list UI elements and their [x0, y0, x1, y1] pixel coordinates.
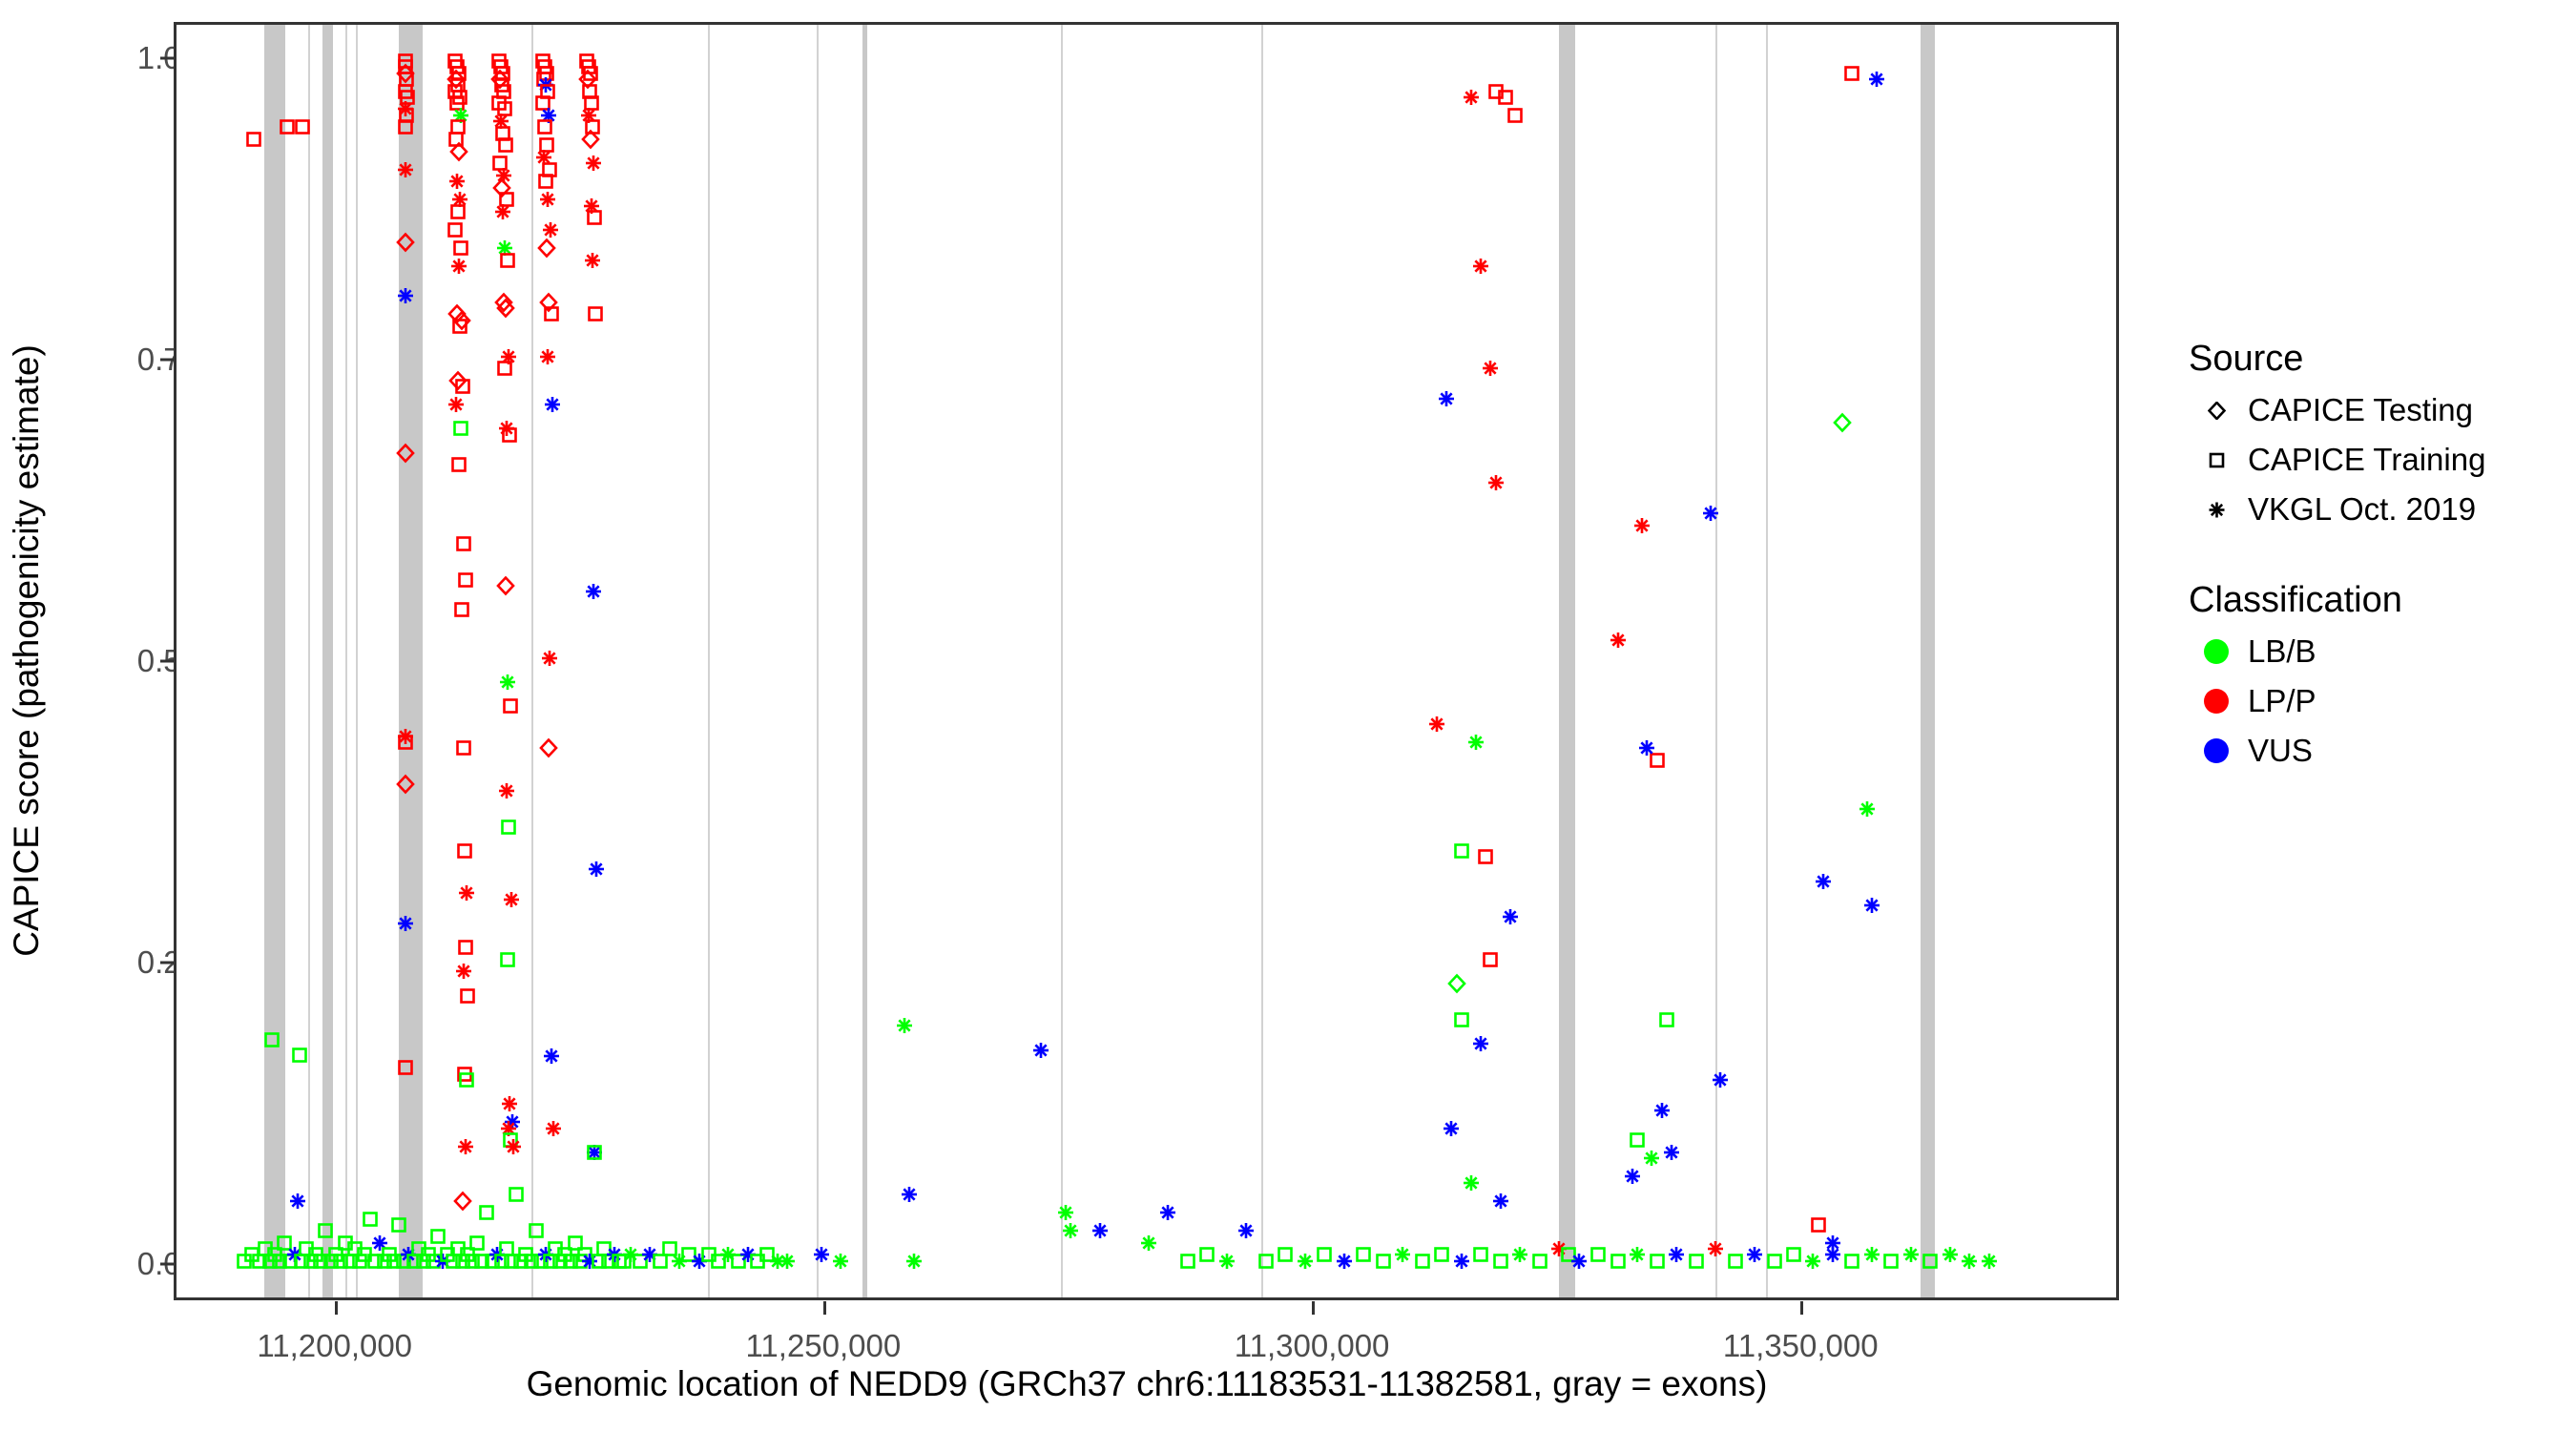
marker-asterisk	[588, 860, 606, 878]
marker-asterisk	[579, 106, 597, 124]
marker-asterisk	[900, 1186, 918, 1204]
marker-square	[483, 1252, 501, 1270]
marker-square	[429, 1228, 447, 1246]
marker-asterisk	[583, 197, 601, 215]
exon-band	[322, 25, 332, 1297]
marker-square	[1648, 752, 1666, 770]
x-tick-mark	[1800, 1301, 1803, 1315]
marker-asterisk	[1858, 799, 1876, 818]
marker-square	[1316, 1246, 1334, 1264]
marker-square	[346, 1240, 364, 1258]
marker-asterisk	[1823, 1246, 1841, 1264]
exon-gridline	[308, 25, 310, 1297]
y-tick-mark	[160, 56, 174, 59]
marker-asterisk	[1814, 872, 1832, 890]
marker-square	[361, 1210, 379, 1228]
marker-asterisk	[1623, 1168, 1641, 1186]
exon-gridline	[708, 25, 710, 1297]
marker-square	[446, 52, 464, 70]
marker-asterisk	[1428, 715, 1446, 734]
marker-square	[503, 1252, 521, 1270]
marker-asterisk	[1452, 1252, 1470, 1270]
marker-diamond	[448, 371, 467, 389]
legend-item-classification[interactable]: LB/B	[2185, 627, 2566, 676]
marker-asterisk	[1296, 1252, 1314, 1270]
x-tick-label: 11,200,000	[192, 1328, 478, 1364]
x-tick-mark	[823, 1301, 826, 1315]
marker-square	[540, 160, 558, 178]
marker-square	[450, 318, 468, 336]
marker-asterisk	[534, 149, 552, 167]
exon-band	[1566, 25, 1570, 1297]
marker-square	[493, 64, 511, 82]
marker-square	[1452, 1010, 1470, 1028]
marker-asterisk	[499, 1119, 517, 1137]
exon-band	[264, 25, 286, 1297]
marker-diamond	[449, 142, 467, 160]
legend-item-source[interactable]: CAPICE Testing	[2185, 385, 2566, 435]
marker-square	[536, 173, 554, 191]
marker-square	[533, 52, 551, 70]
marker-square	[1843, 1252, 1861, 1270]
exon-gridline	[1261, 25, 1263, 1297]
marker-square	[1809, 1215, 1827, 1234]
marker-square	[500, 425, 518, 444]
marker-square	[365, 1252, 384, 1270]
marker-square	[502, 1131, 520, 1150]
marker-square	[575, 1246, 593, 1264]
marker-square	[1609, 1252, 1627, 1270]
marker-diamond	[539, 293, 557, 311]
marker-square	[610, 1252, 628, 1270]
marker-asterisk	[499, 347, 517, 365]
marker-square	[584, 118, 602, 136]
marker-asterisk	[1633, 516, 1652, 534]
marker-asterisk	[494, 167, 512, 185]
y-tick-mark	[160, 1263, 174, 1266]
marker-asterisk	[1091, 1222, 1109, 1240]
marker-asterisk	[497, 781, 515, 799]
exon-band	[862, 25, 867, 1297]
marker-square	[614, 1252, 633, 1270]
exon-gridline	[531, 25, 533, 1297]
marker-asterisk	[1472, 1035, 1490, 1053]
legend-label: VUS	[2248, 733, 2313, 769]
x-tick-mark	[335, 1301, 338, 1315]
marker-square	[449, 456, 467, 474]
marker-asterisk	[580, 1252, 598, 1270]
legend-item-source[interactable]: CAPICE Training	[2185, 435, 2566, 485]
marker-square	[582, 64, 600, 82]
marker-asterisk	[456, 1137, 474, 1155]
marker-asterisk	[1501, 908, 1519, 926]
chart-figure: CAPICE score (pathogenicity estimate) 0.…	[0, 0, 2576, 1431]
legend-label: CAPICE Training	[2248, 442, 2485, 478]
marker-asterisk	[1980, 1252, 1998, 1270]
marker-asterisk	[719, 1246, 737, 1264]
marker-square	[680, 1246, 698, 1264]
marker-asterisk	[768, 1252, 786, 1270]
marker-asterisk	[434, 1252, 452, 1270]
marker-asterisk	[498, 673, 516, 691]
marker-asterisk	[1443, 1119, 1461, 1137]
marker-asterisk	[1159, 1204, 1177, 1222]
marker-square	[454, 534, 472, 552]
marker-asterisk	[895, 1017, 913, 1035]
exon-band	[399, 25, 423, 1297]
square-icon	[2185, 451, 2248, 469]
marker-asterisk	[504, 1113, 522, 1131]
marker-asterisk	[1941, 1246, 1959, 1264]
marker-square	[380, 1246, 398, 1264]
marker-square	[497, 191, 515, 209]
marker-square	[600, 1252, 618, 1270]
marker-square	[493, 124, 511, 142]
legend-item-source[interactable]: VKGL Oct. 2019	[2185, 485, 2566, 534]
marker-square	[1257, 1252, 1275, 1270]
marker-square	[448, 76, 467, 94]
marker-square	[1433, 1246, 1451, 1264]
marker-asterisk	[1609, 631, 1627, 649]
marker-asterisk	[488, 1246, 506, 1264]
marker-square	[535, 58, 553, 76]
marker-square	[464, 1252, 482, 1270]
diamond-icon	[2185, 402, 2248, 420]
marker-square	[758, 1246, 777, 1264]
marker-asterisk	[1901, 1246, 1920, 1264]
marker-asterisk	[1061, 1222, 1079, 1240]
marker-asterisk	[641, 1246, 659, 1264]
color-swatch-icon	[2185, 689, 2248, 714]
legend-group-classification: LB/BLP/PVUS	[2185, 627, 2566, 776]
marker-diamond	[578, 70, 596, 88]
marker-square	[1530, 1252, 1548, 1270]
exon-band	[1921, 25, 1934, 1297]
marker-square	[444, 1252, 462, 1270]
marker-square	[455, 841, 473, 860]
marker-square	[448, 118, 467, 136]
marker-square	[453, 378, 471, 396]
marker-asterisk	[545, 1119, 563, 1137]
marker-asterisk	[738, 1246, 757, 1264]
marker-asterisk	[288, 1192, 306, 1210]
marker-square	[356, 1246, 374, 1264]
marker-asterisk	[454, 963, 472, 981]
marker-square	[508, 1186, 526, 1204]
marker-asterisk	[1491, 1192, 1509, 1210]
marker-square	[473, 1252, 491, 1270]
marker-asterisk	[1629, 1246, 1647, 1264]
marker-diamond	[492, 178, 510, 197]
legend-item-classification[interactable]: LP/P	[2185, 676, 2566, 726]
marker-square	[494, 82, 512, 100]
x-tick-label: 11,350,000	[1657, 1328, 1943, 1364]
marker-square	[455, 1065, 473, 1083]
marker-diamond	[1447, 975, 1465, 993]
plot-area	[177, 25, 2116, 1297]
marker-asterisk	[540, 649, 558, 667]
marker-asterisk	[1467, 734, 1485, 752]
marker-diamond	[537, 238, 555, 257]
marker-square	[451, 420, 469, 438]
marker-square	[497, 1240, 515, 1258]
marker-asterisk	[1746, 1246, 1764, 1264]
marker-square	[297, 1240, 315, 1258]
marker-square	[749, 1252, 767, 1270]
marker-square	[632, 1252, 650, 1270]
marker-asterisk	[622, 1246, 640, 1264]
marker-diamond	[539, 739, 557, 757]
marker-asterisk	[1961, 1252, 1979, 1270]
marker-asterisk	[491, 113, 509, 131]
marker-square	[451, 238, 469, 257]
marker-asterisk	[1482, 360, 1500, 378]
marker-asterisk	[605, 1246, 623, 1264]
marker-asterisk	[543, 1047, 561, 1065]
marker-square	[495, 360, 513, 378]
marker-asterisk	[586, 1143, 604, 1161]
marker-asterisk	[536, 1246, 554, 1264]
marker-square	[478, 1204, 496, 1222]
legend-label: VKGL Oct. 2019	[2248, 491, 2476, 528]
marker-square	[490, 155, 509, 173]
marker-square	[537, 136, 555, 155]
marker-asterisk	[449, 257, 467, 275]
legend-item-classification[interactable]: VUS	[2185, 726, 2566, 776]
marker-square	[456, 939, 474, 957]
marker-square	[534, 70, 552, 88]
marker-square	[1452, 841, 1470, 860]
marker-asterisk	[493, 202, 511, 220]
asterisk-icon	[2185, 501, 2248, 519]
marker-asterisk	[778, 1252, 796, 1270]
legend-group-source: CAPICE TestingCAPICE TrainingVKGL Oct. 2…	[2185, 385, 2566, 534]
y-tick-mark	[160, 358, 174, 361]
marker-square	[543, 305, 561, 323]
marker-square	[537, 64, 555, 82]
marker-square	[457, 1071, 475, 1089]
marker-asterisk	[585, 583, 603, 601]
marker-asterisk	[1438, 389, 1456, 407]
marker-asterisk	[447, 396, 465, 414]
marker-square	[456, 570, 474, 589]
y-tick-mark	[160, 660, 174, 663]
marker-square	[375, 1252, 393, 1270]
marker-asterisk	[505, 1137, 523, 1155]
marker-square	[242, 1246, 260, 1264]
marker-square	[454, 739, 472, 757]
marker-square	[302, 1252, 321, 1270]
plot-panel	[174, 22, 2119, 1300]
marker-diamond	[490, 70, 509, 88]
marker-square	[489, 94, 508, 113]
marker-square	[1785, 1246, 1803, 1264]
color-swatch-icon	[2185, 738, 2248, 763]
marker-asterisk	[497, 420, 515, 438]
marker-square	[1726, 1252, 1744, 1270]
marker-square	[512, 1252, 530, 1270]
marker-square	[502, 697, 520, 715]
marker-square	[351, 1252, 369, 1270]
marker-square	[1482, 950, 1500, 968]
marker-square	[651, 1252, 669, 1270]
marker-square	[498, 251, 516, 269]
marker-asterisk	[536, 76, 554, 94]
marker-square	[1486, 82, 1505, 100]
marker-square	[1629, 1131, 1647, 1150]
y-tick-mark	[160, 962, 174, 964]
marker-square	[290, 1046, 308, 1064]
marker-square	[425, 1252, 443, 1270]
marker-square	[1472, 1246, 1490, 1264]
marker-square	[586, 209, 604, 227]
marker-diamond	[453, 1192, 471, 1210]
marker-asterisk	[539, 106, 557, 124]
marker-asterisk	[584, 251, 602, 269]
marker-square	[458, 1246, 476, 1264]
exon-gridline	[345, 25, 347, 1297]
exon-gridline	[356, 25, 358, 1297]
exon-gridline	[1061, 25, 1063, 1297]
marker-asterisk	[542, 220, 560, 238]
marker-diamond	[1834, 414, 1852, 432]
marker-asterisk	[1862, 1246, 1880, 1264]
marker-asterisk	[1472, 257, 1490, 275]
marker-square	[492, 1252, 510, 1270]
marker-square	[542, 1252, 560, 1270]
marker-square	[450, 88, 468, 106]
x-axis-title: Genomic location of NEDD9 (GRCh37 chr6:1…	[174, 1364, 2120, 1404]
marker-square	[496, 136, 514, 155]
marker-asterisk	[538, 347, 556, 365]
marker-square	[547, 1240, 565, 1258]
marker-square	[710, 1252, 728, 1270]
marker-square	[1687, 1252, 1705, 1270]
marker-asterisk	[1804, 1252, 1822, 1270]
marker-square	[595, 1240, 613, 1258]
marker-square	[571, 1252, 589, 1270]
marker-asterisk	[812, 1246, 830, 1264]
x-tick-label: 11,250,000	[680, 1328, 966, 1364]
marker-square	[447, 131, 465, 149]
marker-asterisk	[1056, 1204, 1074, 1222]
legend-label: LB/B	[2248, 633, 2316, 670]
marker-square	[556, 1246, 574, 1264]
marker-asterisk	[690, 1252, 708, 1270]
marker-square	[489, 52, 508, 70]
marker-square	[452, 601, 470, 619]
marker-square	[1506, 106, 1525, 124]
marker-asterisk	[503, 890, 521, 908]
marker-square	[580, 82, 598, 100]
marker-square	[492, 76, 510, 94]
marker-asterisk	[544, 396, 562, 414]
marker-square	[1277, 1246, 1295, 1264]
marker-square	[583, 94, 601, 113]
marker-square	[587, 305, 605, 323]
marker-asterisk	[832, 1252, 850, 1270]
marker-asterisk	[451, 106, 469, 124]
marker-square	[447, 94, 466, 113]
exon-gridline	[1715, 25, 1717, 1297]
marker-asterisk	[495, 238, 513, 257]
marker-square	[1657, 1010, 1675, 1028]
marker-square	[591, 1252, 609, 1270]
marker-square	[244, 131, 262, 149]
marker-asterisk	[905, 1252, 924, 1270]
marker-asterisk	[1462, 88, 1480, 106]
x-tick-label: 11,300,000	[1169, 1328, 1455, 1364]
marker-diamond	[582, 131, 600, 149]
marker-asterisk	[1662, 1143, 1680, 1161]
marker-square	[1355, 1246, 1373, 1264]
marker-square	[538, 82, 556, 100]
marker-asterisk	[1643, 1150, 1661, 1168]
marker-square	[551, 1252, 570, 1270]
marker-square	[577, 52, 595, 70]
marker-asterisk	[1652, 1101, 1671, 1119]
marker-asterisk	[285, 1246, 303, 1264]
marker-square	[1178, 1252, 1196, 1270]
marker-square	[236, 1252, 254, 1270]
marker-asterisk	[671, 1252, 689, 1270]
marker-square	[1198, 1246, 1216, 1264]
marker-square	[447, 58, 466, 76]
marker-square	[499, 818, 517, 836]
marker-asterisk	[1868, 70, 1886, 88]
marker-square	[1413, 1252, 1431, 1270]
marker-diamond	[452, 311, 470, 329]
marker-asterisk	[447, 173, 466, 191]
marker-square	[1843, 64, 1861, 82]
marker-asterisk	[1486, 474, 1505, 492]
marker-asterisk	[1511, 1246, 1529, 1264]
marker-square	[1491, 1252, 1509, 1270]
marker-asterisk	[1638, 739, 1656, 757]
exon-gridline	[1766, 25, 1768, 1297]
marker-square	[1648, 1252, 1666, 1270]
legend: Source CAPICE TestingCAPICE TrainingVKGL…	[2185, 339, 2566, 776]
marker-square	[1882, 1252, 1901, 1270]
marker-square	[1374, 1252, 1392, 1270]
marker-square	[531, 1252, 550, 1270]
marker-square	[586, 1143, 604, 1161]
marker-square	[468, 1234, 487, 1252]
marker-diamond	[447, 70, 465, 88]
marker-diamond	[494, 293, 512, 311]
marker-asterisk	[457, 884, 475, 902]
marker-asterisk	[1668, 1246, 1686, 1264]
marker-asterisk	[1862, 896, 1880, 914]
marker-square	[448, 1240, 467, 1258]
marker-square	[453, 1252, 471, 1270]
marker-asterisk	[370, 1234, 388, 1252]
marker-diamond	[496, 576, 514, 594]
marker-asterisk	[450, 191, 468, 209]
marker-square	[566, 1234, 584, 1252]
x-tick-mark	[1312, 1301, 1315, 1315]
marker-square	[729, 1252, 747, 1270]
marker-square	[527, 1222, 545, 1240]
marker-square	[535, 118, 553, 136]
marker-asterisk	[1237, 1222, 1256, 1240]
marker-square	[660, 1240, 678, 1258]
marker-diamond	[447, 305, 466, 323]
legend-title-source: Source	[2189, 339, 2566, 380]
marker-square	[449, 64, 467, 82]
marker-square	[1589, 1246, 1608, 1264]
marker-square	[446, 220, 464, 238]
